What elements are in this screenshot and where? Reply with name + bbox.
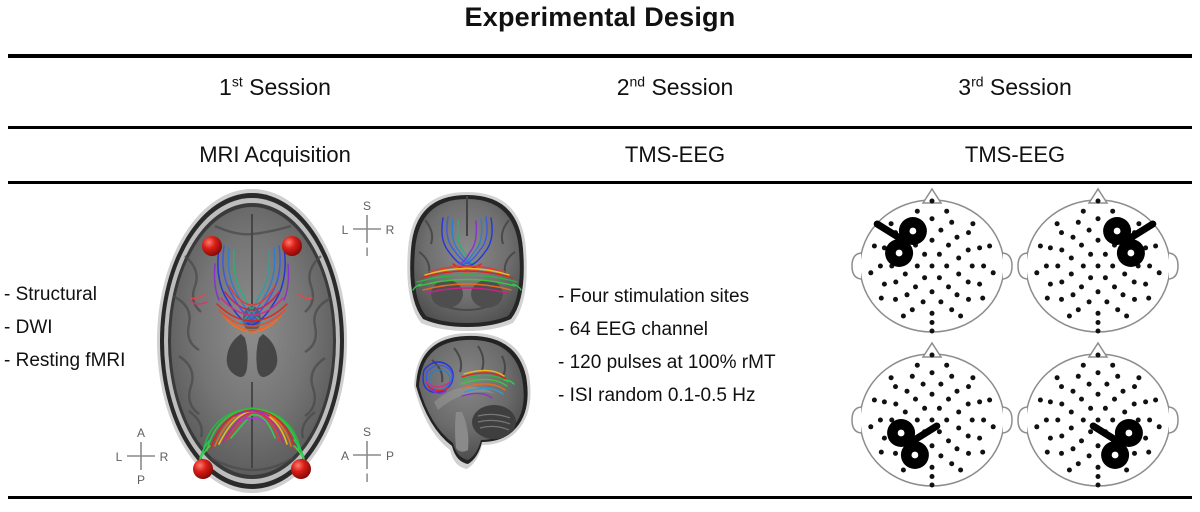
eeg-electrode [966, 280, 971, 285]
sagittal-label-bottom: I [365, 471, 368, 485]
eeg-electrode [987, 398, 992, 403]
eeg-electrode [868, 424, 873, 429]
seed-marker [193, 459, 213, 479]
session-3-suffix: Session [984, 74, 1072, 100]
eeg-electrode [1059, 280, 1064, 285]
eeg-electrode [1059, 402, 1064, 407]
eeg-electrode [1096, 465, 1101, 470]
eeg-electrode [930, 483, 935, 488]
eeg-electrode [1076, 374, 1081, 379]
eeg-electrode [1157, 424, 1162, 429]
eeg-electrode [1055, 264, 1060, 269]
eeg-electrode [1115, 374, 1120, 379]
eeg-electrode [1096, 443, 1101, 448]
eeg-electrode [1112, 284, 1117, 289]
eeg-electrode [977, 436, 982, 441]
eeg-electrode [1143, 436, 1148, 441]
eeg-electrode [966, 230, 971, 235]
list-item: - 64 EEG channel [558, 313, 776, 346]
eeg-electrode [1110, 209, 1115, 214]
session-1-header: 1st Session [40, 74, 510, 101]
session-1-ordinal: st [232, 73, 243, 89]
eeg-electrode [1104, 299, 1109, 304]
axial-label-left: L [116, 450, 123, 464]
eeg-electrode [903, 410, 908, 415]
eeg-electrode [937, 429, 942, 434]
eeg-electrode [882, 399, 887, 404]
eeg-electrode [955, 389, 960, 394]
eeg-electrode [1079, 284, 1084, 289]
eeg-electrode [956, 256, 961, 261]
eeg-electrode [938, 382, 943, 387]
sagittal-label-left: A [341, 449, 349, 463]
eeg-electrode [970, 221, 975, 226]
figure-root: Experimental Design 1st Session 2nd Sess… [0, 0, 1200, 512]
eeg-electrode [879, 296, 884, 301]
eeg-electrode [956, 272, 961, 277]
eeg-electrode [1044, 418, 1049, 423]
eeg-electrode [966, 451, 971, 456]
eeg-electrode [966, 434, 971, 439]
coronal-label-bottom: I [365, 245, 368, 259]
eeg-electrode [1132, 402, 1137, 407]
eeg-electrode [921, 299, 926, 304]
eeg-electrode [882, 282, 887, 287]
eeg-electrode [958, 468, 963, 473]
seed-marker [202, 236, 222, 256]
axial-label-top: A [137, 426, 145, 440]
eeg-electrode [889, 375, 894, 380]
eeg-electrode [901, 314, 906, 319]
session-2-suffix: Session [645, 74, 733, 100]
eeg-electrode [970, 264, 975, 269]
eeg-head-left-anterior [846, 186, 1018, 338]
eeg-electrode [1034, 270, 1039, 275]
session-2-subheader: TMS-EEG [510, 142, 840, 168]
eeg-electrode [1081, 209, 1086, 214]
eeg-electrode [991, 424, 996, 429]
eeg-electrode [1096, 216, 1101, 221]
eeg-electrode [1059, 248, 1064, 253]
eeg-electrode [930, 370, 935, 375]
eeg-head-right-posterior [1012, 340, 1184, 492]
eeg-electrode [1071, 235, 1076, 240]
eeg-electrode [1087, 382, 1092, 387]
eeg-electrode [1143, 399, 1148, 404]
figure-title: Experimental Design [0, 2, 1200, 33]
eeg-electrode [930, 311, 935, 316]
eeg-electrode [1087, 228, 1092, 233]
eeg-electrode [1059, 451, 1064, 456]
eeg-electrode [1122, 410, 1127, 415]
session-3-number: 3 [958, 74, 971, 100]
eeg-electrode [946, 284, 951, 289]
eeg-electrode [987, 244, 992, 249]
eeg-electrode [893, 297, 898, 302]
eeg-electrode [1059, 384, 1064, 389]
eeg-electrode [944, 209, 949, 214]
session-1-bullets: - Structural - DWI - Resting fMRI [4, 278, 125, 377]
eeg-electrode [1079, 243, 1084, 248]
eeg-electrode [944, 264, 949, 269]
eeg-electrode [956, 426, 961, 431]
eeg-electrode [1076, 461, 1081, 466]
eeg-electrode [901, 468, 906, 473]
eeg-electrode [938, 453, 943, 458]
eeg-electrode [1048, 436, 1053, 441]
eeg-electrode [1055, 418, 1060, 423]
eeg-electrode [1096, 320, 1101, 325]
eeg-electrode [1038, 398, 1043, 403]
eeg-electrode [930, 199, 935, 204]
eeg-electrode [1096, 370, 1101, 375]
eeg-electrode [1081, 264, 1086, 269]
eeg-electrode [1146, 296, 1151, 301]
eeg-electrode [868, 270, 873, 275]
session-2-number: 2 [617, 74, 630, 100]
list-item: - Structural [4, 278, 125, 311]
eeg-electrode [922, 406, 927, 411]
eeg-electrode [930, 443, 935, 448]
eeg-electrode [1132, 384, 1137, 389]
eeg-electrode [1136, 375, 1141, 380]
eeg-electrode [882, 436, 887, 441]
eeg-electrode [930, 353, 935, 358]
eeg-electrode [977, 245, 982, 250]
eeg-electrode [1096, 474, 1101, 479]
list-item: - Four stimulation sites [558, 280, 776, 313]
eeg-electrode [1110, 363, 1115, 368]
coronal-label-top: S [363, 199, 371, 213]
eeg-electrode [1143, 282, 1148, 287]
eeg-electrode [1132, 451, 1137, 456]
rule-mid [8, 126, 1192, 129]
eeg-electrode [1067, 468, 1072, 473]
eeg-electrode [872, 398, 877, 403]
axial-brain-image [145, 186, 360, 496]
eeg-electrode [878, 418, 883, 423]
eeg-electrode [893, 280, 898, 285]
eeg-electrode [930, 289, 935, 294]
eeg-electrode [1048, 399, 1053, 404]
eeg-electrode [1146, 450, 1151, 455]
eeg-electrode [1121, 292, 1126, 297]
rule-subheader [8, 181, 1192, 184]
eeg-electrode [1157, 270, 1162, 275]
eeg-electrode [946, 243, 951, 248]
eeg-electrode [955, 235, 960, 240]
coronal-label-left: L [342, 223, 349, 237]
eeg-electrode [913, 284, 918, 289]
eeg-electrode [1059, 434, 1064, 439]
eeg-electrode [944, 418, 949, 423]
axial-orientation-marker: A L R P [108, 424, 174, 486]
sagittal-brain-image [398, 330, 543, 465]
eeg-electrode [938, 228, 943, 233]
eeg-electrode [1103, 406, 1108, 411]
eeg-electrode [1069, 426, 1074, 431]
eeg-electrode [1096, 199, 1101, 204]
eeg-electrode [1088, 252, 1093, 257]
eeg-electrode [893, 451, 898, 456]
eeg-electrode [930, 264, 935, 269]
eeg-electrode [956, 410, 961, 415]
eeg-electrode [930, 418, 935, 423]
eeg-electrode [1103, 275, 1108, 280]
eeg-electrode [991, 270, 996, 275]
eeg-electrode [1088, 406, 1093, 411]
list-item: - DWI [4, 311, 125, 344]
eeg-electrode [949, 374, 954, 379]
eeg-electrode [922, 275, 927, 280]
eeg-electrode [1087, 299, 1092, 304]
eeg-electrode [1045, 450, 1050, 455]
eeg-electrode [949, 220, 954, 225]
eeg-electrode [930, 465, 935, 470]
eeg-electrode [1112, 397, 1117, 402]
eeg-electrode [949, 461, 954, 466]
eeg-electrode [1153, 398, 1158, 403]
eeg-electrode [944, 363, 949, 368]
eeg-electrode [913, 397, 918, 402]
eeg-electrode [879, 450, 884, 455]
eeg-electrode [1055, 375, 1060, 380]
eeg-electrode [1038, 244, 1043, 249]
coronal-brain-image [395, 190, 540, 325]
eeg-electrode [1096, 289, 1101, 294]
eeg-electrode [903, 272, 908, 277]
list-item: - Resting fMRI [4, 344, 125, 377]
eeg-electrode [1076, 220, 1081, 225]
session-3-ordinal: rd [971, 73, 983, 89]
eeg-electrode [930, 238, 935, 243]
eeg-electrode [930, 329, 935, 334]
eeg-electrode [889, 221, 894, 226]
eeg-electrode [1059, 297, 1064, 302]
eeg-electrode [1088, 429, 1093, 434]
session-3-subheader: TMS-EEG [840, 142, 1190, 168]
list-item: - ISI random 0.1-0.5 Hz [558, 379, 776, 412]
eeg-electrode [970, 418, 975, 423]
axial-label-right: R [160, 450, 169, 464]
eeg-electrode [1153, 244, 1158, 249]
eeg-electrode [1115, 307, 1120, 312]
eeg-electrode [1096, 483, 1101, 488]
list-item: - 120 pulses at 100% rMT [558, 346, 776, 379]
eeg-electrode [1088, 275, 1093, 280]
eeg-electrode [1079, 438, 1084, 443]
eeg-electrode [1110, 264, 1115, 269]
eeg-electrode [977, 399, 982, 404]
eeg-electrode [893, 402, 898, 407]
eeg-electrode [1069, 256, 1074, 261]
eeg-electrode [1096, 418, 1101, 423]
rule-bottom [8, 496, 1192, 499]
session-1-subheader: MRI Acquisition [40, 142, 510, 168]
eeg-electrode [1045, 296, 1050, 301]
eeg-electrode [1081, 363, 1086, 368]
eeg-electrode [981, 264, 986, 269]
eeg-electrode [915, 418, 920, 423]
eeg-electrode [966, 297, 971, 302]
eeg-electrode [958, 314, 963, 319]
eeg-electrode [930, 392, 935, 397]
eeg-electrode [1048, 282, 1053, 287]
eeg-electrode [1124, 468, 1129, 473]
eeg-electrode [921, 382, 926, 387]
eeg-electrode [930, 474, 935, 479]
eeg-electrode [1048, 245, 1053, 250]
sagittal-label-top: S [363, 425, 371, 439]
eeg-electrode [1071, 292, 1076, 297]
session-2-bullets: - Four stimulation sites - 64 EEG channe… [558, 280, 776, 412]
eeg-electrode [915, 363, 920, 368]
eeg-electrode [1069, 272, 1074, 277]
eeg-electrode [1122, 272, 1127, 277]
eeg-electrode [937, 252, 942, 257]
eeg-electrode [946, 438, 951, 443]
eeg-electrode [1069, 410, 1074, 415]
session-2-header: 2nd Session [510, 74, 840, 101]
eeg-electrode [1055, 221, 1060, 226]
session-1-number: 1 [219, 74, 232, 100]
eeg-electrode [1071, 389, 1076, 394]
eeg-electrode [1136, 221, 1141, 226]
eeg-electrode [872, 244, 877, 249]
eeg-electrode [937, 406, 942, 411]
eeg-electrode [1081, 418, 1086, 423]
eeg-electrode [981, 418, 986, 423]
eeg-electrode [1121, 389, 1126, 394]
eeg-head-left-posterior [846, 340, 1018, 492]
eeg-electrode [1044, 264, 1049, 269]
eeg-electrode [1034, 424, 1039, 429]
eeg-electrode [937, 275, 942, 280]
sagittal-label-right: P [386, 449, 394, 463]
eeg-electrode [966, 402, 971, 407]
eeg-electrode [905, 389, 910, 394]
eeg-electrode [966, 248, 971, 253]
eeg-electrode [1096, 311, 1101, 316]
eeg-electrode [955, 292, 960, 297]
eeg-electrode [980, 450, 985, 455]
eeg-electrode [930, 216, 935, 221]
eeg-electrode [1124, 314, 1129, 319]
eeg-electrode [910, 374, 915, 379]
eeg-electrode [1147, 264, 1152, 269]
eeg-electrode [915, 264, 920, 269]
eeg-electrode [1132, 280, 1137, 285]
eeg-electrode [1079, 397, 1084, 402]
eeg-electrode [1096, 353, 1101, 358]
eeg-electrode [955, 446, 960, 451]
axial-label-bottom: P [137, 473, 145, 487]
eeg-electrode [922, 252, 927, 257]
coronal-label-right: R [386, 223, 395, 237]
sagittal-orientation-marker: S A P I [336, 424, 398, 484]
eeg-electrode [1104, 382, 1109, 387]
eeg-electrode [946, 397, 951, 402]
eeg-electrode [970, 375, 975, 380]
eeg-electrode [930, 320, 935, 325]
eeg-electrode [1076, 307, 1081, 312]
coronal-orientation-marker: S L R I [336, 198, 398, 258]
eeg-electrode [1147, 418, 1152, 423]
eeg-head-right-anterior [1012, 186, 1184, 338]
eeg-electrode [1110, 418, 1115, 423]
eeg-electrode [1059, 230, 1064, 235]
eeg-electrode [977, 282, 982, 287]
eeg-electrode [949, 307, 954, 312]
session-1-suffix: Session [243, 74, 331, 100]
eeg-electrode [980, 296, 985, 301]
eeg-electrode [1067, 314, 1072, 319]
eeg-electrode [905, 292, 910, 297]
eeg-electrode [966, 384, 971, 389]
eeg-electrode [1096, 329, 1101, 334]
seed-marker [291, 459, 311, 479]
eeg-electrode [938, 299, 943, 304]
session-3-header: 3rd Session [840, 74, 1190, 101]
eeg-electrode [1103, 252, 1108, 257]
eeg-electrode [1096, 238, 1101, 243]
eeg-electrode [1096, 264, 1101, 269]
seed-marker [282, 236, 302, 256]
rule-top [8, 54, 1192, 58]
eeg-electrode [878, 264, 883, 269]
eeg-electrode [1096, 392, 1101, 397]
eeg-electrode [910, 307, 915, 312]
eeg-electrode [893, 384, 898, 389]
session-2-ordinal: nd [630, 73, 646, 89]
eeg-electrode [1132, 297, 1137, 302]
eeg-electrode [915, 209, 920, 214]
eeg-electrode [1087, 453, 1092, 458]
eeg-electrode [1071, 446, 1076, 451]
